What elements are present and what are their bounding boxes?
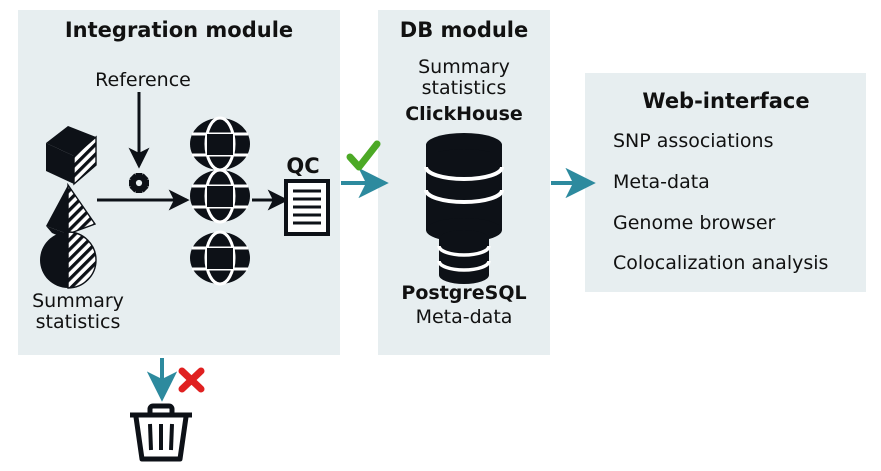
trash-can-icon bbox=[130, 406, 192, 459]
web-feature-snp-associations: SNP associations bbox=[613, 130, 774, 152]
clickhouse-label: ClickHouse bbox=[405, 104, 523, 125]
input-summary-line2: statistics bbox=[32, 312, 124, 333]
db-summary-line1: Summary bbox=[418, 57, 510, 78]
db-summary-statistics-label: Summary statistics bbox=[418, 57, 510, 100]
postgresql-label: PostgreSQL bbox=[401, 283, 526, 304]
cross-icon bbox=[182, 371, 201, 389]
db-summary-line2: statistics bbox=[418, 78, 510, 99]
web-feature-meta-data: Meta-data bbox=[613, 171, 710, 193]
panel-web-title: Web-interface bbox=[642, 90, 809, 114]
panel-integration-title: Integration module bbox=[65, 19, 293, 43]
panel-db-title: DB module bbox=[400, 19, 528, 43]
db-metadata-label: Meta-data bbox=[416, 307, 513, 328]
input-summary-statistics-label: Summary statistics bbox=[32, 291, 124, 334]
check-icon bbox=[350, 144, 377, 167]
input-summary-line1: Summary bbox=[32, 291, 124, 312]
qc-label: QC bbox=[286, 155, 319, 179]
web-feature-genome-browser: Genome browser bbox=[613, 212, 775, 234]
web-feature-colocalization-analysis: Colocalization analysis bbox=[613, 252, 828, 274]
diagram-canvas: Integration module Reference QC Summary … bbox=[0, 0, 881, 471]
reference-label: Reference bbox=[95, 70, 191, 91]
